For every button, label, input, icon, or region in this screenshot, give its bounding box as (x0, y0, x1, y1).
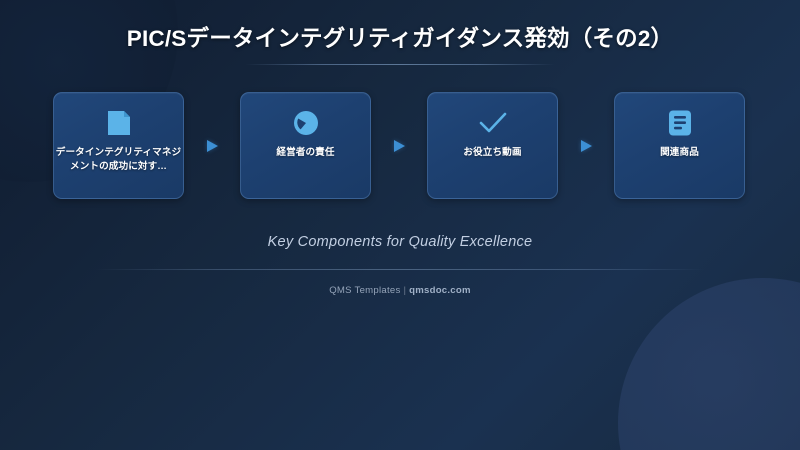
flow-card-2[interactable]: 経営者の責任 (240, 92, 371, 199)
arrow-3 (558, 92, 614, 199)
arrow-right-icon (207, 140, 218, 152)
flow-card-4-label: 関連商品 (656, 146, 703, 160)
arrow-1 (184, 92, 240, 199)
footer-brand: QMS Templates (329, 285, 400, 296)
flow-card-1-label: データインテグリティマネジメントの成功に対す… (54, 146, 183, 173)
footer-separator: | (403, 285, 406, 296)
title-block: PIC/Sデータインテグリティガイダンス発効（その2） (0, 25, 800, 65)
page-title: PIC/Sデータインテグリティガイダンス発効（その2） (0, 25, 800, 52)
flow-card-4[interactable]: 関連商品 (614, 92, 745, 199)
decorative-circle-bottom-right (618, 278, 800, 450)
footer: QMS Templates | qmsdoc.com (0, 285, 800, 296)
flow-card-3-label: お役立ち動画 (459, 146, 525, 160)
arrow-right-icon (581, 140, 592, 152)
arrow-right-icon (394, 140, 405, 152)
slide-canvas: PIC/Sデータインテグリティガイダンス発効（その2） データインテグリティマネ… (0, 0, 800, 450)
footer-divider (95, 269, 705, 270)
document-icon (103, 107, 135, 139)
flow-card-3[interactable]: お役立ち動画 (427, 92, 558, 199)
process-flow-row: データインテグリティマネジメントの成功に対す… 経営者の責任 (53, 92, 747, 199)
pie-chart-circle-icon (290, 107, 322, 139)
flow-card-1[interactable]: データインテグリティマネジメントの成功に対す… (53, 92, 184, 199)
flow-card-2-label: 経営者の責任 (272, 146, 338, 160)
title-divider (245, 64, 555, 65)
checkmark-icon (477, 107, 509, 139)
list-document-icon (664, 107, 696, 139)
subtitle: Key Components for Quality Excellence (0, 234, 800, 250)
arrow-2 (371, 92, 427, 199)
footer-site: qmsdoc.com (409, 285, 471, 296)
